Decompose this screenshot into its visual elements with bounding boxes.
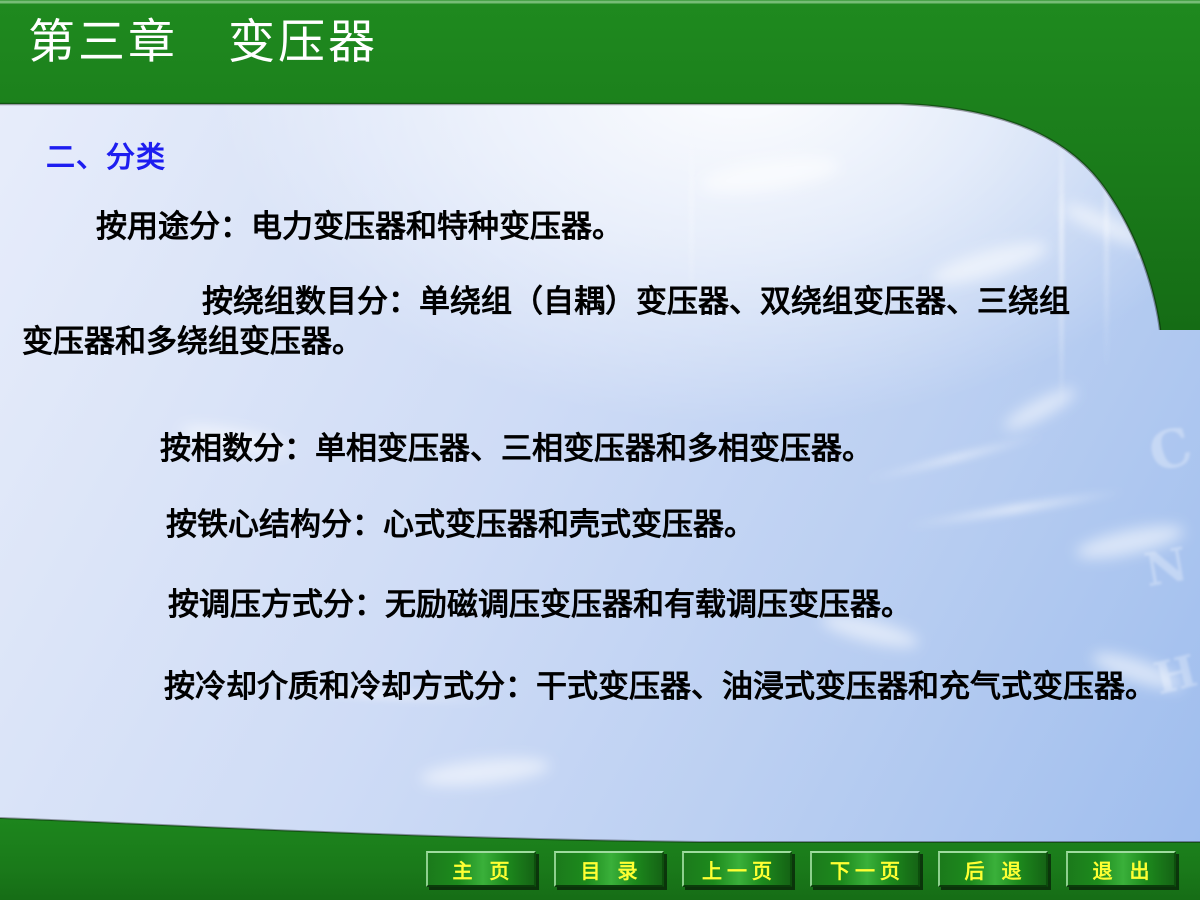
classification-paragraph-3: 按相数分：单相变压器、三相变压器和多相变压器。 bbox=[160, 430, 1190, 470]
nav-button-label: 下一页 bbox=[825, 855, 905, 884]
paragraph-text: 按相数分：单相变压器、三相变压器和多相变压器。 bbox=[160, 431, 873, 467]
nav-button-back[interactable]: 后 退 bbox=[938, 851, 1048, 887]
classification-paragraph-2: 按绕组数目分：单绕组（自耦）变压器、双绕组变压器、三绕组变压器和多绕组变压器。 bbox=[22, 283, 1092, 362]
paragraph-text: 按调压方式分：无励磁调压变压器和有载调压变压器。 bbox=[168, 587, 912, 623]
nav-button-previous-page[interactable]: 上一页 bbox=[682, 851, 792, 887]
paragraph-text: 按铁心结构分：心式变压器和壳式变压器。 bbox=[166, 507, 755, 543]
nav-button-label: 目 录 bbox=[576, 855, 643, 884]
navigation-bar: 主 页 目 录 上一页 下一页 后 退 退 出 bbox=[0, 838, 1200, 900]
classification-paragraph-1: 按用途分：电力变压器和特种变压器。 bbox=[96, 208, 1156, 248]
classification-paragraph-6: 按冷却介质和冷却方式分：干式变压器、油浸式变压器和充气式变压器。 bbox=[14, 668, 1184, 708]
slide-canvas: H C N H 第三章 变压器 二、分类 按用途分：电力变压器和特种变压器。 按… bbox=[0, 0, 1200, 900]
paragraph-text: 按用途分：电力变压器和特种变压器。 bbox=[96, 209, 623, 245]
paragraph-text: 按绕组数目分：单绕组（自耦）变压器、双绕组变压器、三绕组变压器和多绕组变压器。 bbox=[22, 284, 1070, 360]
classification-paragraph-5: 按调压方式分：无励磁调压变压器和有载调压变压器。 bbox=[168, 586, 1188, 626]
nav-button-home[interactable]: 主 页 bbox=[426, 851, 536, 887]
nav-button-label: 上一页 bbox=[697, 855, 777, 884]
nav-button-label: 后 退 bbox=[960, 855, 1027, 884]
nav-button-label: 退 出 bbox=[1088, 855, 1155, 884]
paragraph-text: 按冷却介质和冷却方式分：干式变压器、油浸式变压器和充气式变压器。 bbox=[164, 669, 1156, 705]
section-heading: 二、分类 bbox=[46, 134, 166, 176]
nav-button-contents[interactable]: 目 录 bbox=[554, 851, 664, 887]
slide-content: 二、分类 按用途分：电力变压器和特种变压器。 按绕组数目分：单绕组（自耦）变压器… bbox=[0, 108, 1200, 808]
nav-button-label: 主 页 bbox=[448, 855, 515, 884]
classification-paragraph-4: 按铁心结构分：心式变压器和壳式变压器。 bbox=[166, 506, 1186, 546]
nav-button-exit[interactable]: 退 出 bbox=[1066, 851, 1176, 887]
nav-button-next-page[interactable]: 下一页 bbox=[810, 851, 920, 887]
